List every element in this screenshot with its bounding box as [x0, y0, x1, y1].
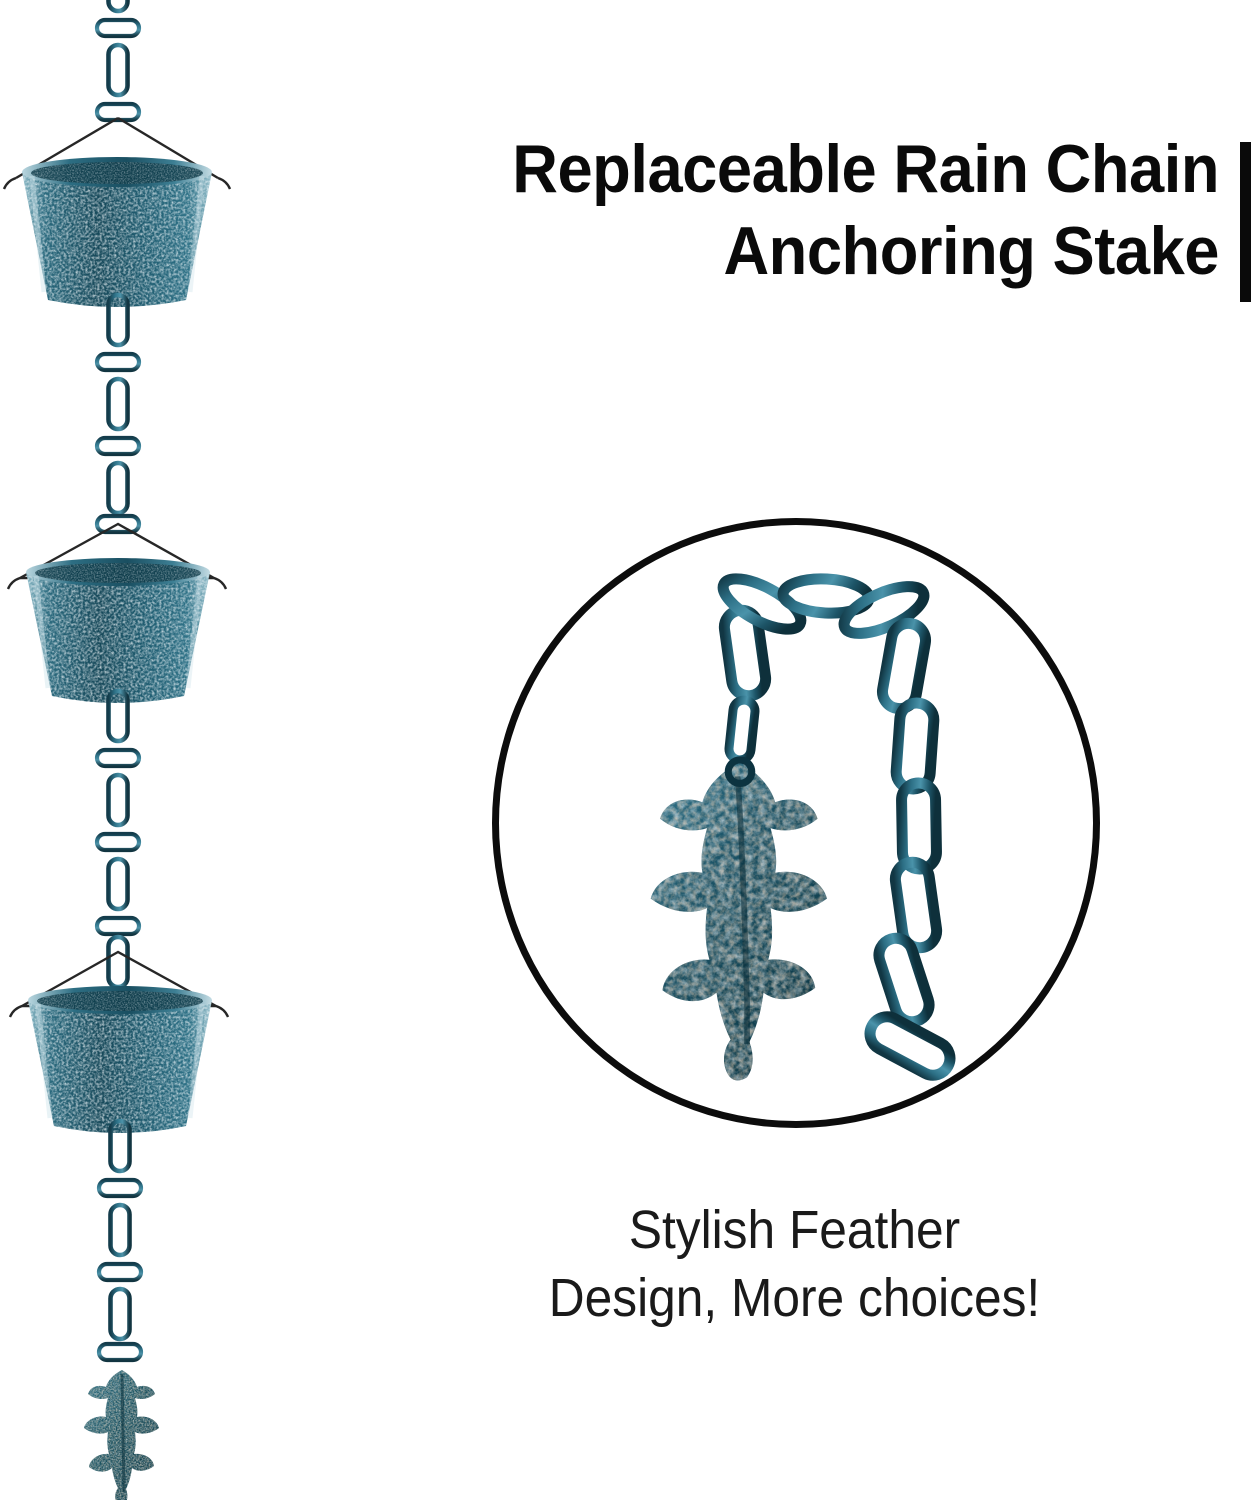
rain-chain-cup	[8, 524, 226, 703]
rain-chain-cup	[10, 952, 228, 1133]
page-title: Replaceable Rain Chain Anchoring Stake	[229, 128, 1219, 292]
chain-and-feather-detail	[492, 518, 1100, 1128]
pendant-drop-link	[728, 699, 756, 761]
chain-segment-top	[97, 0, 139, 120]
caption-line-2: Design, More choices!	[367, 1264, 1222, 1332]
headline-line-1: Replaceable Rain Chain	[298, 128, 1219, 210]
feature-caption: Stylish Feather Design, More choices!	[0, 1196, 1259, 1332]
product-marketing-page: Replaceable Rain Chain Anchoring Stake	[0, 0, 1259, 1500]
headline-accent-rule	[1240, 142, 1251, 302]
rain-chain-cup	[4, 118, 230, 307]
feather-pendant	[84, 1370, 159, 1500]
caption-line-1: Stylish Feather	[367, 1196, 1222, 1264]
feather-pendant	[651, 760, 827, 1081]
feather-detail-circle	[492, 518, 1100, 1128]
headline-line-2: Anchoring Stake	[298, 210, 1219, 292]
chain-segment-2	[97, 691, 139, 987]
chain-segment-1	[97, 295, 139, 532]
